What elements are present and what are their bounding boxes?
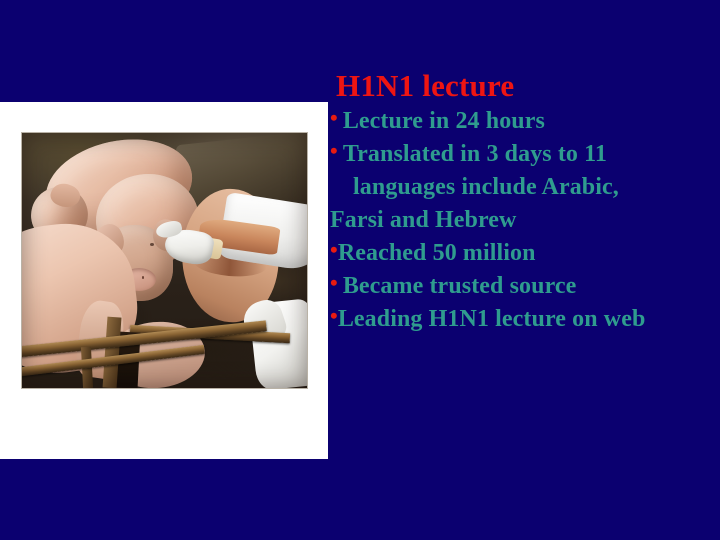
presentation-slide: H1N1 lecture •Lecture in 24 hours •Trans… [0,0,720,540]
bullet-marker-icon: • [330,270,338,295]
bullet-marker-icon: • [330,303,338,328]
photo-panel [0,102,328,459]
bullet-list: •Lecture in 24 hours •Translated in 3 da… [330,105,716,336]
photo-vignette [22,133,307,388]
bullet-text-5: Reached 50 million [338,240,536,266]
bullet-marker-icon: • [330,237,338,262]
bullet-text-4: Farsi and Hebrew [330,207,517,233]
bullet-text-6: Became trusted source [343,273,577,299]
bullet-line-7: •Leading H1N1 lecture on web [330,303,716,336]
bullet-text-7: Leading H1N1 lecture on web [338,306,646,332]
bullet-text-3: languages include Arabic, [353,174,619,200]
slide-title: H1N1 lecture [336,68,716,104]
pigs-photo [22,133,307,388]
bullet-marker-icon: • [330,105,338,130]
bullet-line-4-continuation: Farsi and Hebrew [330,204,716,237]
bullet-marker-icon: • [330,138,338,163]
slide-text-block: H1N1 lecture •Lecture in 24 hours •Trans… [330,68,716,336]
bullet-line-1: •Lecture in 24 hours [330,105,716,138]
bullet-line-2: •Translated in 3 days to 11 [330,138,716,171]
bullet-line-3-continuation: languages include Arabic, [330,171,716,204]
bullet-text-2: Translated in 3 days to 11 [343,141,607,167]
bullet-line-6: •Became trusted source [330,270,716,303]
bullet-text-1: Lecture in 24 hours [343,108,545,134]
bullet-line-5: •Reached 50 million [330,237,716,270]
